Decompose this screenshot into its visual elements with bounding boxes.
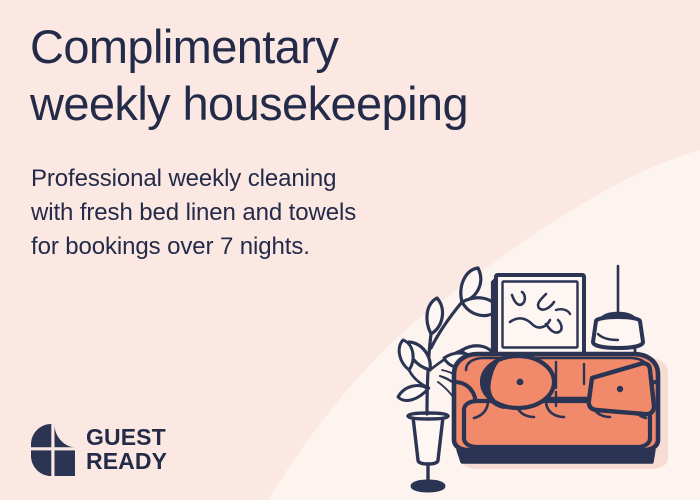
sofa-icon — [454, 354, 668, 469]
pendant-lamp-icon — [593, 266, 643, 364]
logo-wordmark: GUEST READY — [86, 426, 167, 474]
framed-picture-icon — [492, 275, 584, 358]
logo-word-line1: GUEST — [86, 426, 167, 450]
guestready-logo[interactable]: GUEST READY — [31, 424, 167, 476]
logo-word-line2: READY — [86, 450, 167, 474]
page-title: Complimentary weekly housekeeping — [30, 18, 630, 133]
description-text: Professional weekly cleaning with fresh … — [31, 162, 451, 264]
sofa-cushion-round-icon — [482, 356, 554, 408]
living-room-illustration — [396, 258, 700, 500]
guestready-logo-mark-icon — [31, 424, 75, 476]
promo-banner: Complimentary weekly housekeeping Profes… — [0, 0, 700, 500]
